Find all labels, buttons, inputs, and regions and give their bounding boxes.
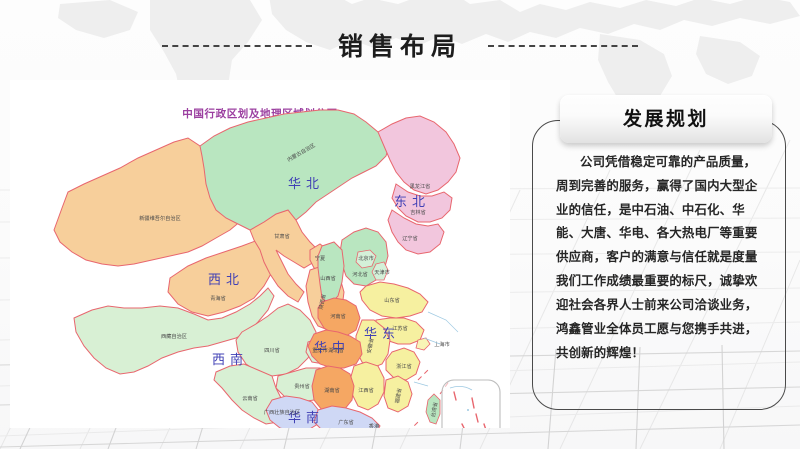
province-label-xinjiang: 新疆维吾尔自治区 <box>139 214 181 222</box>
page-title: 销售布局 <box>338 34 462 59</box>
province-label-hebei: 河北省 <box>352 270 368 278</box>
province-label-sichuan: 四川省 <box>264 346 280 354</box>
province-label-beijing: 北京市 <box>358 254 374 262</box>
china-administrative-map: 东北 华北 西北 西南 华中 华东 华南 黑龙江省 吉林省 辽宁省 内蒙古自治区… <box>10 80 510 428</box>
slide-stage: 销售布局 中国行政区划及地理区域划分图 <box>0 0 800 449</box>
region-label-huabei: 华北 <box>288 177 324 192</box>
province-jiangxi <box>350 362 384 410</box>
region-label-xinan: 西南 <box>212 352 248 368</box>
province-label-qinghai: 青海省 <box>210 294 226 302</box>
development-plan-badge: 发展规划 <box>560 95 772 143</box>
province-label-liaoning: 辽宁省 <box>402 234 418 242</box>
province-label-guangdong: 广东省 <box>338 418 354 426</box>
development-plan-body-text: 公司凭借稳定可靠的产品质量，周到完善的服务，赢得了国内大型企业的信任，是中石油、… <box>556 150 764 364</box>
region-label-dongbei: 东北 <box>394 195 430 210</box>
slide-header: 销售布局 <box>0 24 800 68</box>
province-label-hunan: 湖南省 <box>324 386 340 394</box>
development-plan-badge-label: 发展规划 <box>623 110 709 129</box>
header-rule-left-icon <box>162 45 312 47</box>
province-label-jilin: 吉林省 <box>410 208 426 216</box>
province-label-zhejiang: 浙江省 <box>396 362 412 370</box>
province-label-gansu: 甘肃省 <box>274 232 290 240</box>
province-label-henan: 河南省 <box>330 312 346 320</box>
province-label-guangxi: 广西壮族自治区 <box>264 408 300 416</box>
province-label-guizhou: 贵州省 <box>294 382 310 390</box>
province-label-heilongjiang: 黑龙江省 <box>410 182 431 190</box>
province-heilongjiang <box>378 116 460 194</box>
region-label-xibei: 西北 <box>208 273 244 288</box>
china-map-panel: 中国行政区划及地理区域划分图 <box>10 80 510 428</box>
south-china-sea-inset <box>442 380 500 428</box>
province-label-hubei: 湖北省 <box>328 346 344 354</box>
province-label-shanxi: 山西省 <box>320 274 336 282</box>
province-inner-mongolia <box>200 110 390 230</box>
province-label-shandong: 山东省 <box>384 296 400 304</box>
province-label-jiangxi: 江西省 <box>358 386 374 394</box>
province-label-tibet: 西藏自治区 <box>161 332 187 340</box>
header-rule-right-icon <box>488 45 638 47</box>
province-label-shanghai: 上海市 <box>434 340 450 348</box>
province-label-tianjin: 天津市 <box>374 268 390 276</box>
province-label-chongqing: 重庆市 <box>312 346 328 354</box>
province-label-ningxia: 宁夏 <box>315 254 326 262</box>
province-label-jiangsu: 江苏省 <box>392 324 408 332</box>
province-label-yunnan: 云南省 <box>242 394 258 402</box>
